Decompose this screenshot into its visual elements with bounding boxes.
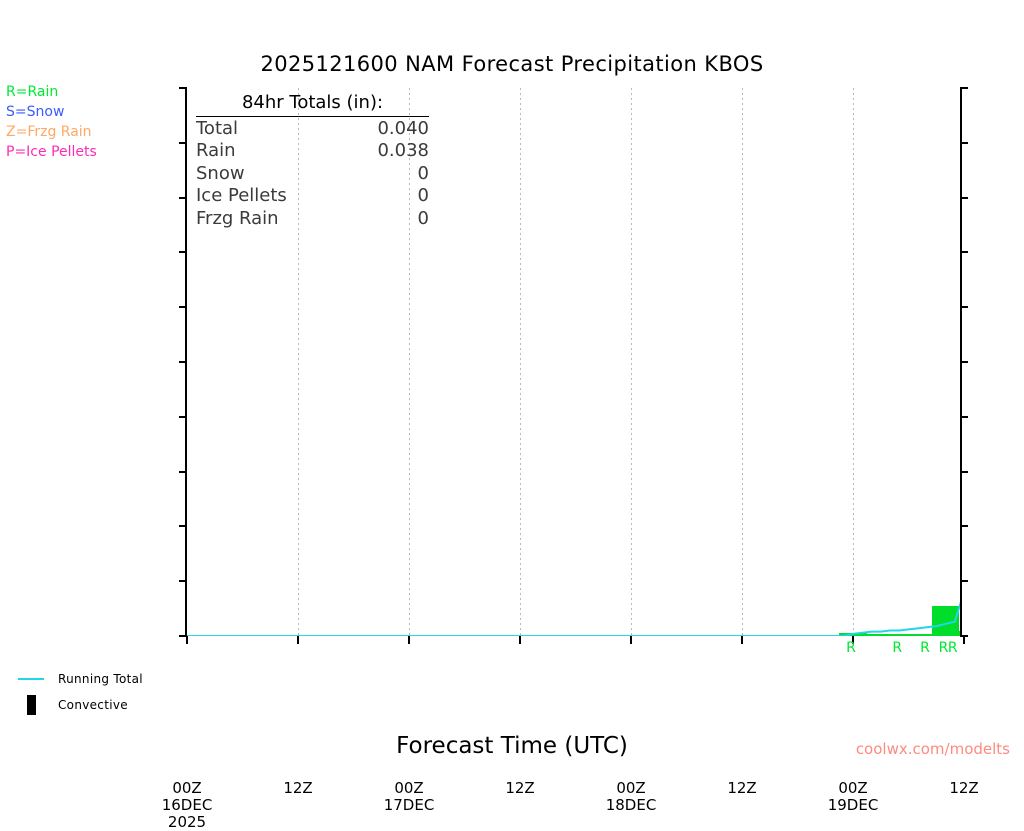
precip-type-legend: R=Rain S=Snow Z=Frzg Rain P=Ice Pellets [6,82,97,162]
legend-item-running-total: Running Total [14,666,143,692]
precip-type-marker-rain: R [892,641,902,655]
series-legend: Running Total Convective [14,666,143,718]
watermark: coolwx.com/modelts [856,740,1010,758]
ptype-legend-item-ice-pellets: P=Ice Pellets [6,142,97,162]
x-axis-tick-label: 00Z19DEC [793,780,913,814]
y-axis-tick [960,525,968,527]
ptype-legend-item-frzg-rain: Z=Frzg Rain [6,122,97,142]
y-axis-tick [960,580,968,582]
y-axis-tick [179,306,187,308]
x-axis-tick [630,636,632,644]
y-axis-tick [179,361,187,363]
x-axis-tick-label: 12Z [460,780,580,797]
precip-type-marker-rain: R [920,641,930,655]
y-axis-tick [960,306,968,308]
totals-label-rain: Rain [196,140,377,163]
y-axis-tick [960,197,968,199]
totals-title: 84hr Totals (in): [196,92,429,117]
totals-row-frzg-rain: Frzg Rain 0 [196,208,429,231]
totals-row-rain: Rain 0.038 [196,140,429,163]
precipitation-forecast-chart: 2025121600 NAM Forecast Precipitation KB… [0,0,1024,768]
totals-value-total: 0.040 [377,118,429,141]
x-axis-tick [408,636,410,644]
y-axis-tick [960,471,968,473]
legend-item-convective: Convective [14,692,143,718]
totals-row-total: Total 0.040 [196,118,429,141]
x-axis-tick-label: 00Z16DEC2025 [127,780,247,831]
y-axis-tick [179,416,187,418]
y-axis-tick [960,87,968,89]
totals-row-ice-pellets: Ice Pellets 0 [196,185,429,208]
y-axis-tick [179,525,187,527]
y-axis-tick [179,251,187,253]
running-total-line-icon [14,678,48,680]
x-axis-tick [741,636,743,644]
ptype-legend-item-rain: R=Rain [6,82,97,102]
x-axis-tick-label: 12Z [238,780,358,797]
y-axis-tick [960,251,968,253]
x-axis-tick [963,636,965,644]
totals-value-snow: 0 [418,163,429,186]
precip-type-marker-rain: R [846,641,856,655]
y-axis-tick [179,197,187,199]
chart-title: 2025121600 NAM Forecast Precipitation KB… [0,52,1024,76]
x-axis-tick-label: 00Z18DEC [571,780,691,814]
x-axis-tick [519,636,521,644]
totals-label-ice-pellets: Ice Pellets [196,185,418,208]
y-axis-tick [179,87,187,89]
y-axis-tick [960,142,968,144]
x-axis-tick-label: 00Z17DEC [349,780,469,814]
x-axis-tick-label: 12Z [904,780,1024,797]
totals-label-total: Total [196,118,377,141]
convective-bar-icon [14,695,48,715]
ptype-legend-item-snow: S=Snow [6,102,97,122]
precip-type-marker-rain: R [948,641,958,655]
x-axis-tick [186,636,188,644]
totals-label-frzg-rain: Frzg Rain [196,208,418,231]
x-axis-tick [297,636,299,644]
y-axis-tick [960,361,968,363]
legend-label-convective: Convective [58,698,128,712]
totals-value-rain: 0.038 [377,140,429,163]
totals-row-snow: Snow 0 [196,163,429,186]
totals-value-ice-pellets: 0 [418,185,429,208]
y-axis-tick [179,142,187,144]
x-axis-tick-label: 12Z [682,780,802,797]
y-axis-tick [179,471,187,473]
legend-label-running-total: Running Total [58,672,143,686]
y-axis-tick [179,580,187,582]
y-axis-tick [960,416,968,418]
totals-value-frzg-rain: 0 [418,208,429,231]
totals-summary-box: 84hr Totals (in): Total 0.040 Rain 0.038… [196,92,429,231]
totals-label-snow: Snow [196,163,418,186]
